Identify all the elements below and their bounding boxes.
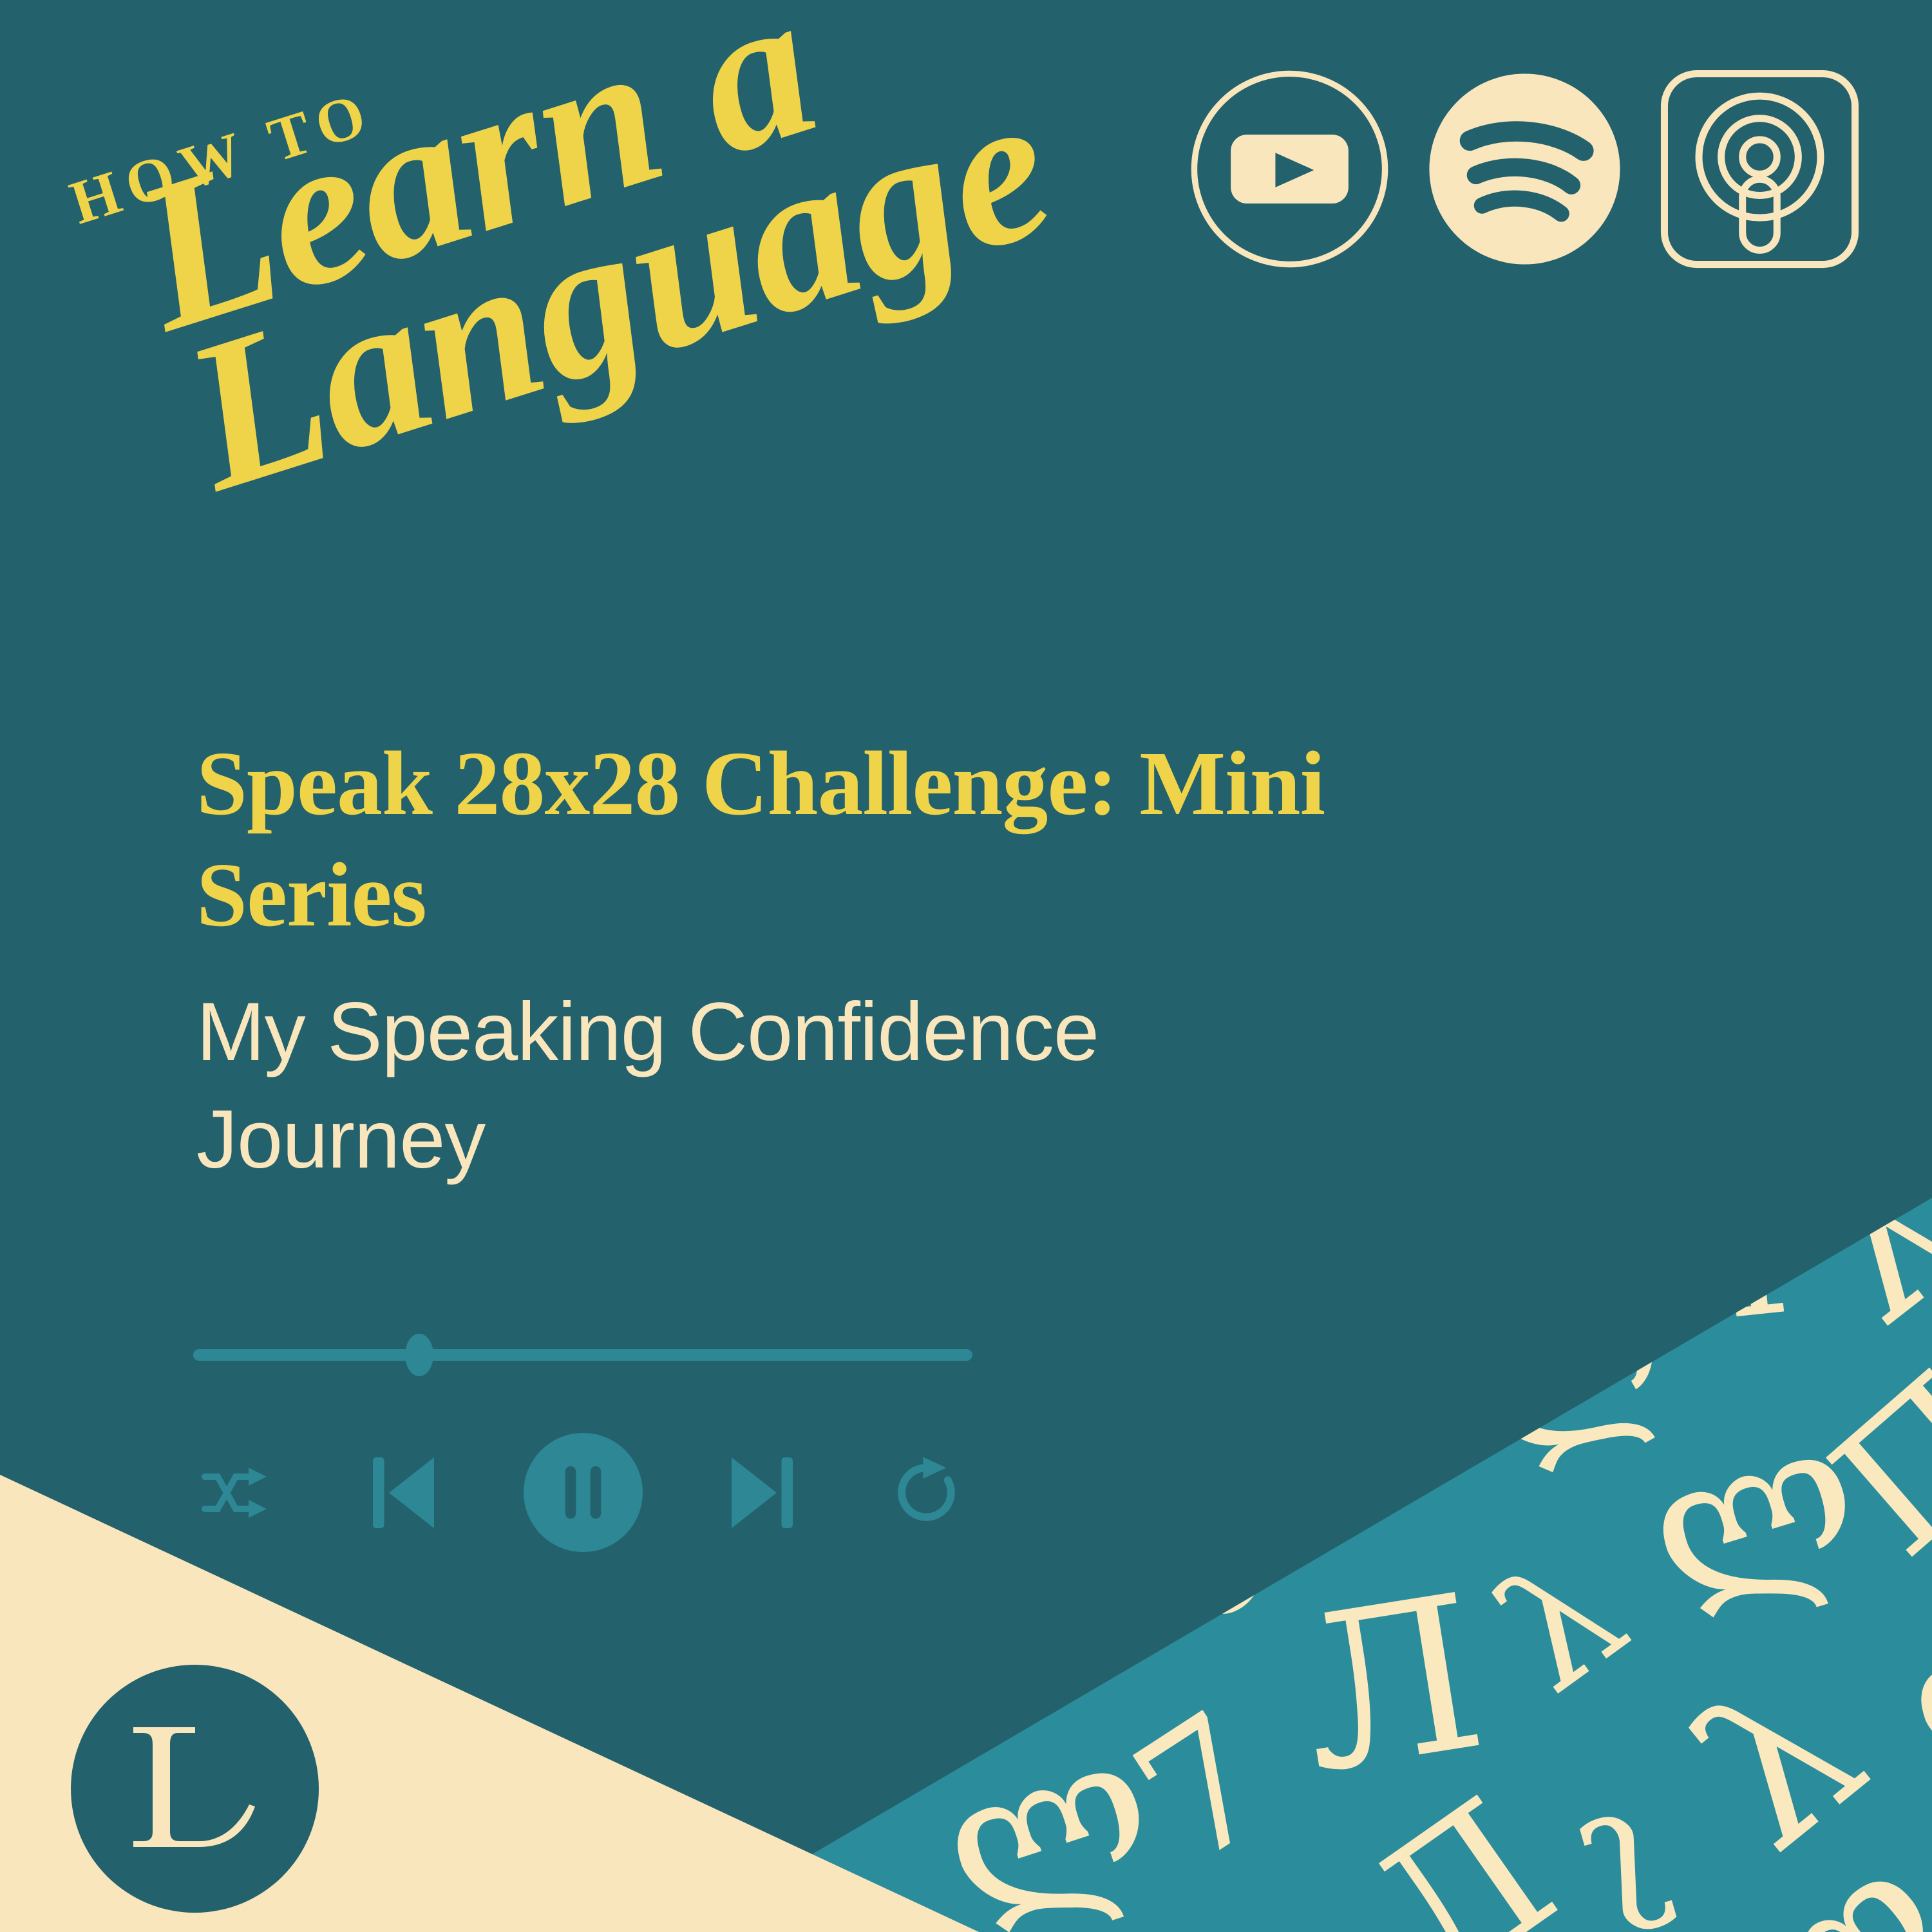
previous-track-icon — [370, 1454, 437, 1531]
repeat-icon — [891, 1455, 965, 1529]
next-track-icon — [728, 1454, 796, 1531]
pattern-glyph: ლ — [1776, 890, 1932, 1110]
pause-button[interactable] — [524, 1433, 643, 1552]
pattern-glyph: ლ — [1884, 1566, 1932, 1799]
logo-letter-l-icon — [99, 1692, 292, 1886]
episode-subtitle: My Speaking Confidence Journey — [196, 979, 1368, 1193]
episode-text-block: Speak 28x28 Challenge: Mini Series My Sp… — [196, 728, 1523, 1193]
progress-thumb[interactable] — [405, 1334, 433, 1376]
pause-icon — [524, 1433, 643, 1552]
pattern-glyph: λ — [1473, 1528, 1650, 1718]
shuffle-icon — [200, 1464, 277, 1522]
pattern-glyph: 7 — [1248, 1333, 1418, 1566]
apple-podcasts-icon[interactable] — [1658, 68, 1861, 270]
next-button[interactable] — [717, 1444, 808, 1541]
pattern-glyph: λ — [1781, 1127, 1932, 1354]
audio-player — [193, 1349, 972, 1361]
repeat-button[interactable] — [882, 1444, 972, 1541]
progress-bar[interactable] — [193, 1349, 972, 1361]
pattern-glyph: ლ — [1696, 1815, 1932, 1932]
pattern-glyph: ʅ — [1559, 1756, 1679, 1932]
pattern-glyph: Л — [1639, 1170, 1795, 1351]
pattern-glyph: λ — [1583, 948, 1765, 1146]
platform-icon-row — [1188, 68, 1861, 270]
pattern-glyph: 7 — [1089, 1203, 1265, 1439]
spotify-icon[interactable] — [1423, 68, 1626, 270]
podcast-cover-art: Л ʅ λ ლ 7 ʅ Л λ ლ ლ λ Л λ ʅ 7 ლ Л λ Π ʅ … — [0, 0, 1932, 1932]
show-wordmark: HOW TO Learn a Language — [39, 0, 1242, 600]
episode-title: Speak 28x28 Challenge: Mini Series — [196, 728, 1420, 951]
shuffle-button[interactable] — [193, 1444, 283, 1541]
youtube-icon[interactable] — [1188, 68, 1391, 270]
show-logo — [71, 1665, 319, 1913]
pattern-glyph: ʅ — [1104, 1450, 1256, 1628]
player-controls — [193, 1433, 972, 1552]
previous-button[interactable] — [358, 1444, 448, 1541]
pattern-glyph: Л — [790, 1564, 990, 1765]
